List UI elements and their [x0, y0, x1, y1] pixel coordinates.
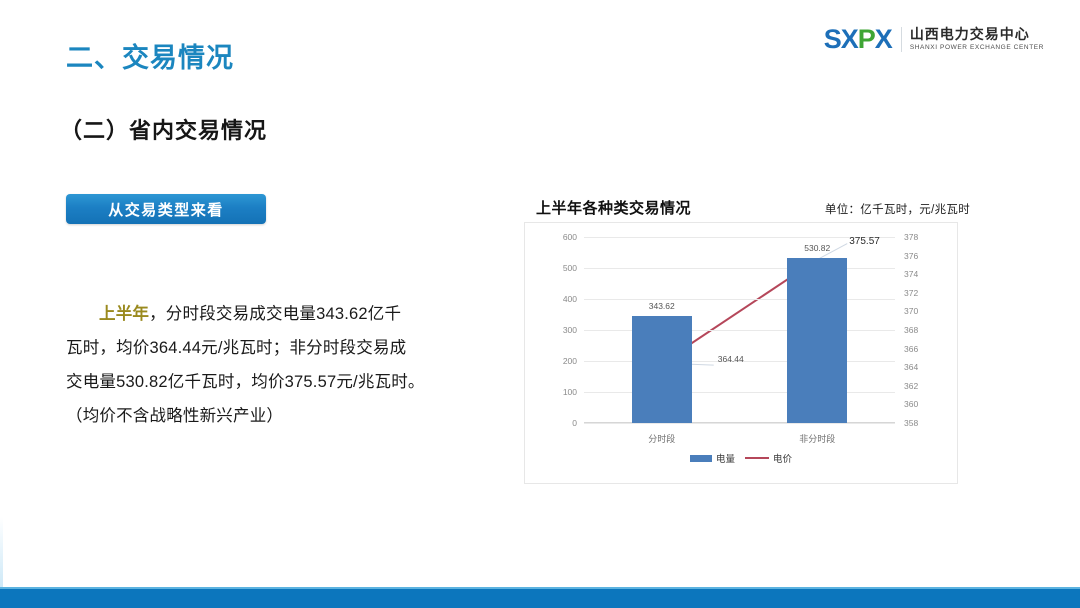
- chart-x-axis-label: 分时段: [648, 432, 675, 445]
- logo-letter-s: S: [824, 26, 841, 53]
- company-logo: SXPX 山西电力交易中心 SHANXI POWER EXCHANGE CENT…: [824, 26, 1044, 53]
- chart-gridline: [584, 392, 895, 393]
- chart-y-axis-tick: 400: [563, 295, 577, 304]
- body-line-1: ，分时段交易成交电量343.62亿千: [149, 305, 401, 323]
- chart-y2-axis-tick: 358: [904, 419, 918, 428]
- slide-canvas: 二、交易情况 SXPX 山西电力交易中心 SHANXI POWER EXCHAN…: [0, 0, 1080, 608]
- category-badge-label: 从交易类型来看: [108, 199, 224, 220]
- chart-y-axis-tick: 200: [563, 357, 577, 366]
- logo-letter-x1: X: [841, 26, 858, 53]
- chart-header: 上半年各种类交易情况 单位：亿千瓦时，元/兆瓦时: [536, 197, 970, 218]
- logo-chinese-name: 山西电力交易中心: [910, 27, 1044, 42]
- chart-y2-axis-tick: 360: [904, 400, 918, 409]
- highlight-term: 上半年: [99, 305, 149, 323]
- chart-gridline: [584, 299, 895, 300]
- chart-y2-axis-tick: 372: [904, 289, 918, 298]
- chart-bar-value-label: 343.62: [649, 301, 675, 311]
- chart-gridline: [584, 330, 895, 331]
- page-title: 二、交易情况: [66, 36, 234, 75]
- chart-y2-axis-tick: 374: [904, 270, 918, 279]
- body-line-2: 瓦时，均价364.44元/兆瓦时；非分时段交易成: [66, 339, 406, 357]
- chart-y-axis-tick: 0: [572, 419, 577, 428]
- chart-gridline: [584, 268, 895, 269]
- chart-legend: 电量 电价: [525, 451, 957, 465]
- legend-bar-swatch-icon: [690, 455, 712, 462]
- footer-bar: [0, 589, 1080, 608]
- chart-line-value-label: 375.57: [849, 236, 880, 247]
- body-line-4: （均价不含战略性新兴产业）: [66, 407, 283, 425]
- chart-x-axis-label: 非分时段: [799, 432, 835, 445]
- chart-bar-value-label: 530.82: [804, 243, 830, 253]
- chart-y-axis-tick: 100: [563, 388, 577, 397]
- legend-label-bar: 电量: [716, 451, 735, 465]
- chart-bar: [787, 258, 847, 423]
- legend-label-line: 电价: [773, 451, 792, 465]
- chart-gridline: [584, 423, 895, 424]
- chart-y-axis-tick: 500: [563, 264, 577, 273]
- logo-wordmark: SXPX: [824, 26, 892, 53]
- chart-y2-axis-tick: 364: [904, 363, 918, 372]
- legend-line-swatch-icon: [745, 457, 769, 459]
- chart-y-axis-tick: 300: [563, 326, 577, 335]
- logo-text-block: 山西电力交易中心 SHANXI POWER EXCHANGE CENTER: [901, 27, 1044, 52]
- logo-letter-p: P: [858, 26, 875, 53]
- body-paragraph: 上半年，分时段交易成交电量343.62亿千 瓦时，均价364.44元/兆瓦时；非…: [66, 297, 471, 433]
- chart-y2-axis-tick: 362: [904, 382, 918, 391]
- chart-unit-note: 单位：亿千瓦时，元/兆瓦时: [825, 201, 970, 217]
- chart-y2-axis-tick: 370: [904, 307, 918, 316]
- chart-y2-axis-tick: 366: [904, 345, 918, 354]
- chart-bar: [632, 316, 692, 423]
- category-badge: 从交易类型来看: [66, 194, 266, 224]
- chart-plot-area: 0100200300400500600358360362364366368370…: [584, 237, 895, 423]
- legend-item-line: 电价: [745, 451, 792, 465]
- chart-line-value-label: 364.44: [718, 354, 744, 364]
- chart-y2-axis-tick: 378: [904, 233, 918, 242]
- left-edge-accent: [0, 0, 3, 608]
- chart-y-axis-tick: 600: [563, 233, 577, 242]
- chart-y2-axis-tick: 376: [904, 252, 918, 261]
- logo-english-name: SHANXI POWER EXCHANGE CENTER: [910, 44, 1044, 52]
- chart-container: 0100200300400500600358360362364366368370…: [524, 222, 958, 484]
- logo-letter-x2: X: [875, 26, 892, 53]
- section-subtitle: （二）省内交易情况: [60, 113, 267, 145]
- chart-y2-axis-tick: 368: [904, 326, 918, 335]
- body-line-3: 交电量530.82亿千瓦时，均价375.57元/兆瓦时。: [66, 373, 425, 391]
- legend-item-bar: 电量: [690, 451, 735, 465]
- chart-title: 上半年各种类交易情况: [536, 197, 691, 218]
